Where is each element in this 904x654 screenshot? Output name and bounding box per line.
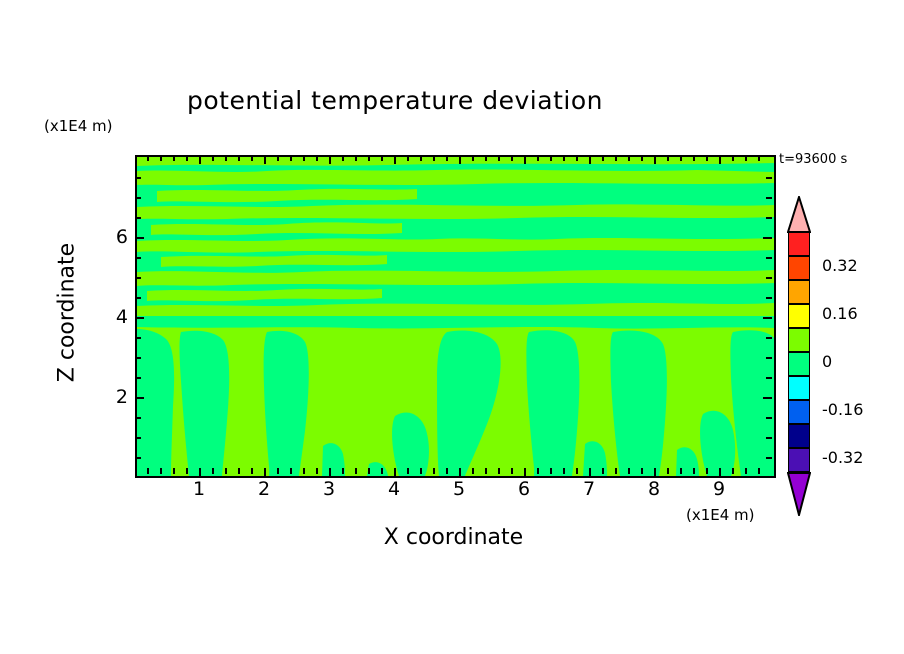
x-tick-bottom-major [524, 468, 526, 477]
x-tick-bottom [628, 468, 630, 474]
x-tick-bottom [173, 468, 175, 474]
x-tick-bottom-major [589, 468, 591, 477]
y-tick-right [766, 217, 772, 219]
x-tick-bottom [225, 468, 227, 474]
x-tick-top [550, 155, 552, 161]
y-tick-left [135, 277, 141, 279]
x-tick-bottom-major [459, 468, 461, 477]
y-tick-label: 6 [88, 226, 128, 248]
x-tick-bottom [667, 468, 669, 474]
y-tick-right [766, 197, 772, 199]
y-tick-right-major [763, 317, 772, 319]
x-tick-top [511, 155, 513, 161]
x-tick-top-major [459, 155, 461, 164]
x-tick-top [290, 155, 292, 161]
x-tick-label: 7 [569, 478, 609, 500]
y-tick-left [135, 297, 141, 299]
x-tick-top [368, 155, 370, 161]
y-tick-left-major [135, 397, 144, 399]
x-tick-top [160, 155, 162, 161]
x-tick-top [446, 155, 448, 161]
x-tick-top [628, 155, 630, 161]
x-tick-label: 6 [504, 478, 544, 500]
y-tick-right [766, 417, 772, 419]
y-tick-right [766, 177, 772, 179]
colorbar-band [788, 232, 810, 256]
x-tick-top [407, 155, 409, 161]
x-tick-bottom-major [654, 468, 656, 477]
y-axis-title: Z coordinate [55, 223, 80, 403]
x-tick-bottom [602, 468, 604, 474]
x-tick-bottom [706, 468, 708, 474]
x-tick-top [602, 155, 604, 161]
x-tick-bottom [368, 468, 370, 474]
x-axis-title: X coordinate [135, 525, 772, 550]
x-tick-bottom [303, 468, 305, 474]
x-tick-top [303, 155, 305, 161]
x-tick-label: 8 [634, 478, 674, 500]
x-tick-top [745, 155, 747, 161]
x-tick-top [212, 155, 214, 161]
x-tick-top [563, 155, 565, 161]
x-tick-top [732, 155, 734, 161]
y-tick-left-major [135, 317, 144, 319]
y-tick-right [766, 457, 772, 459]
y-tick-left [135, 177, 141, 179]
colorbar-tick-label: 0 [822, 352, 832, 371]
x-tick-top [251, 155, 253, 161]
x-tick-bottom [641, 468, 643, 474]
contour-field [137, 157, 774, 476]
y-axis-unit-label: (x1E4 m) [44, 117, 113, 135]
x-tick-top [758, 155, 760, 161]
x-tick-top-major [524, 155, 526, 164]
y-tick-left [135, 377, 141, 379]
colorbar-band [788, 448, 810, 472]
x-tick-label: 3 [309, 478, 349, 500]
colorbar-band [788, 376, 810, 400]
x-tick-bottom [693, 468, 695, 474]
x-axis-unit-label: (x1E4 m) [686, 506, 755, 524]
colorbar [788, 232, 810, 472]
x-tick-bottom [472, 468, 474, 474]
x-tick-top [615, 155, 617, 161]
x-tick-bottom [407, 468, 409, 474]
x-tick-bottom [563, 468, 565, 474]
y-tick-right [766, 257, 772, 259]
x-tick-top [173, 155, 175, 161]
x-tick-bottom [680, 468, 682, 474]
x-tick-bottom [758, 468, 760, 474]
x-tick-bottom [615, 468, 617, 474]
x-tick-label: 4 [374, 478, 414, 500]
x-tick-bottom [355, 468, 357, 474]
y-tick-left [135, 257, 141, 259]
x-tick-bottom [537, 468, 539, 474]
x-tick-bottom [433, 468, 435, 474]
x-tick-label: 5 [439, 478, 479, 500]
contour-plot-area [135, 155, 776, 478]
colorbar-tick-label: -0.16 [822, 400, 863, 419]
colorbar-tick-label: 0.32 [822, 256, 858, 275]
x-tick-top [225, 155, 227, 161]
x-tick-bottom [576, 468, 578, 474]
x-tick-top [641, 155, 643, 161]
x-tick-bottom-major [199, 468, 201, 477]
colorbar-band [788, 400, 810, 424]
contour-figure: potential temperature deviation (x1E4 m)… [0, 0, 904, 654]
y-tick-right [766, 377, 772, 379]
x-tick-top-major [329, 155, 331, 164]
y-tick-right [766, 437, 772, 439]
x-tick-bottom [186, 468, 188, 474]
y-tick-label: 2 [88, 386, 128, 408]
x-tick-top-major [719, 155, 721, 164]
x-tick-top [472, 155, 474, 161]
x-tick-bottom [212, 468, 214, 474]
x-tick-top [342, 155, 344, 161]
x-tick-bottom [446, 468, 448, 474]
x-tick-bottom [745, 468, 747, 474]
x-tick-bottom [147, 468, 149, 474]
colorbar-band [788, 328, 810, 352]
y-tick-left-major [135, 237, 144, 239]
x-tick-top [667, 155, 669, 161]
colorbar-over-arrow [787, 196, 811, 233]
x-tick-bottom [498, 468, 500, 474]
colorbar-band [788, 352, 810, 376]
x-tick-label: 2 [244, 478, 284, 500]
y-tick-left [135, 217, 141, 219]
y-tick-right [766, 297, 772, 299]
x-tick-bottom [485, 468, 487, 474]
x-tick-top [576, 155, 578, 161]
x-tick-top [186, 155, 188, 161]
x-tick-bottom-major [394, 468, 396, 477]
x-tick-bottom [316, 468, 318, 474]
x-tick-top-major [589, 155, 591, 164]
x-tick-top [537, 155, 539, 161]
colorbar-band [788, 424, 810, 448]
x-tick-top [238, 155, 240, 161]
colorbar-tick-label: 0.16 [822, 304, 858, 323]
x-tick-bottom [277, 468, 279, 474]
x-tick-top [706, 155, 708, 161]
x-tick-label: 9 [699, 478, 739, 500]
colorbar-under-arrow [787, 472, 811, 516]
colorbar-tick-label: -0.32 [822, 448, 863, 467]
y-tick-right-major [763, 397, 772, 399]
y-tick-right [766, 277, 772, 279]
y-tick-right-major [763, 237, 772, 239]
timestamp-annotation: t=93600 s [779, 152, 847, 167]
y-tick-right [766, 337, 772, 339]
boundary-layer-svg [137, 316, 774, 476]
x-tick-bottom-major [719, 468, 721, 477]
x-tick-top [147, 155, 149, 161]
x-tick-bottom [420, 468, 422, 474]
page-title: potential temperature deviation [0, 86, 790, 115]
x-tick-top-major [199, 155, 201, 164]
colorbar-band [788, 256, 810, 280]
x-tick-bottom [342, 468, 344, 474]
x-tick-top [355, 155, 357, 161]
x-tick-top-major [654, 155, 656, 164]
x-tick-top [420, 155, 422, 161]
y-tick-left [135, 457, 141, 459]
x-tick-bottom [238, 468, 240, 474]
x-tick-bottom-major [264, 468, 266, 477]
x-tick-top [680, 155, 682, 161]
y-tick-left [135, 417, 141, 419]
x-tick-bottom [160, 468, 162, 474]
x-tick-bottom [290, 468, 292, 474]
x-tick-bottom [381, 468, 383, 474]
x-tick-top [381, 155, 383, 161]
x-tick-bottom [251, 468, 253, 474]
x-tick-bottom-major [329, 468, 331, 477]
x-tick-bottom [732, 468, 734, 474]
y-tick-left [135, 197, 141, 199]
x-tick-top-major [394, 155, 396, 164]
y-tick-label: 4 [88, 306, 128, 328]
x-tick-bottom [550, 468, 552, 474]
x-tick-label: 1 [179, 478, 219, 500]
x-tick-top-major [264, 155, 266, 164]
y-tick-left [135, 357, 141, 359]
y-tick-left [135, 437, 141, 439]
colorbar-band [788, 304, 810, 328]
x-tick-top [485, 155, 487, 161]
colorbar-band [788, 280, 810, 304]
x-tick-top [277, 155, 279, 161]
x-tick-bottom [511, 468, 513, 474]
y-tick-right [766, 357, 772, 359]
y-tick-left [135, 337, 141, 339]
x-tick-top [498, 155, 500, 161]
x-tick-top [693, 155, 695, 161]
x-tick-top [433, 155, 435, 161]
x-tick-top [316, 155, 318, 161]
